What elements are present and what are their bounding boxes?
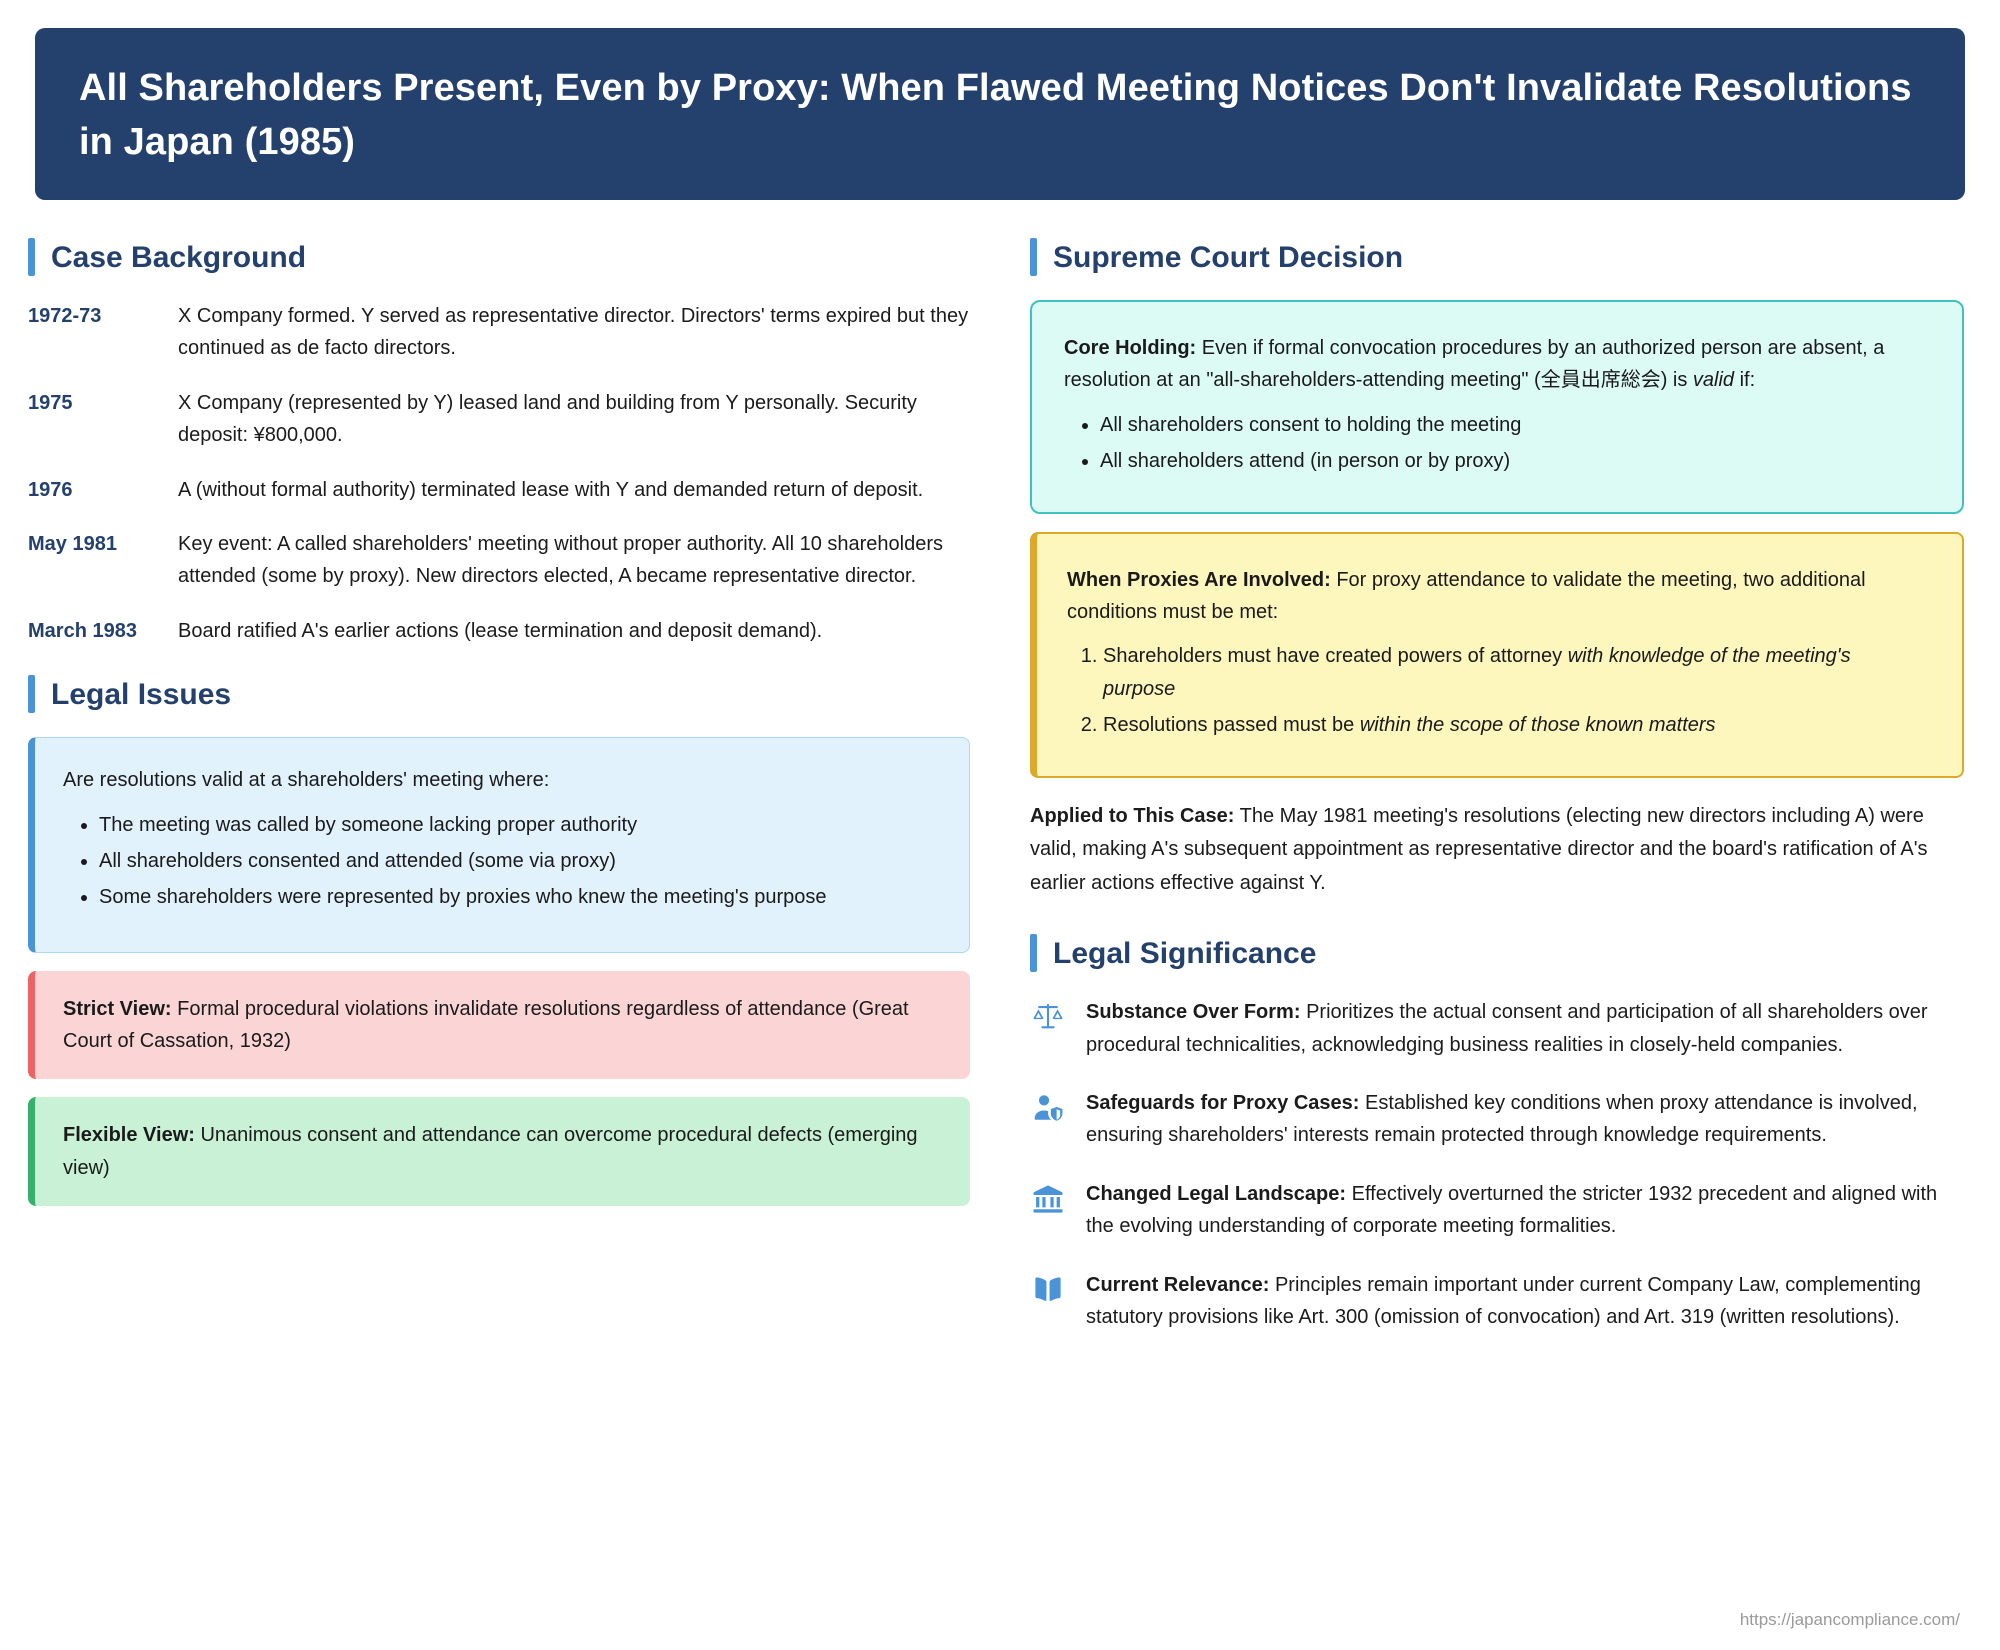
- applied-label: Applied to This Case:: [1030, 805, 1234, 827]
- timeline-date: 1972-73: [28, 300, 178, 332]
- list-item: All shareholders consent to holding the …: [1100, 409, 1928, 441]
- section-legal-issues-heading: Legal Issues: [28, 675, 970, 713]
- timeline-row: 1976 A (without formal authority) termin…: [28, 474, 970, 506]
- proxy-item-italic: within the scope of those known matters: [1360, 714, 1716, 736]
- list-item: Resolutions passed must be within the sc…: [1103, 709, 1928, 741]
- timeline-date: March 1983: [28, 615, 178, 647]
- list-item: All shareholders attend (in person or by…: [1100, 445, 1928, 477]
- significance-label: Substance Over Form:: [1086, 1001, 1301, 1023]
- core-holding-label: Core Holding:: [1064, 337, 1196, 359]
- significance-label: Changed Legal Landscape:: [1086, 1183, 1346, 1205]
- timeline-row: 1975 X Company (represented by Y) leased…: [28, 387, 970, 452]
- book-icon: [1030, 1273, 1066, 1307]
- timeline-row: May 1981 Key event: A called shareholder…: [28, 528, 970, 593]
- core-holding-italic: valid: [1693, 369, 1734, 391]
- list-item: Some shareholders were represented by pr…: [99, 881, 939, 913]
- question-bullet-list: The meeting was called by someone lackin…: [63, 809, 939, 914]
- section-title: Case Background: [51, 241, 306, 274]
- significance-item: Substance Over Form: Prioritizes the act…: [1030, 996, 1964, 1061]
- accent-bar: [28, 238, 35, 276]
- applied-to-case-paragraph: Applied to This Case: The May 1981 meeti…: [1030, 800, 1964, 901]
- infographic-page: All Shareholders Present, Even by Proxy:…: [0, 0, 2000, 1650]
- timeline-date: 1975: [28, 387, 178, 419]
- bank-icon: [1030, 1182, 1066, 1216]
- timeline-text: Board ratified A's earlier actions (leas…: [178, 615, 970, 647]
- case-background-timeline: 1972-73 X Company formed. Y served as re…: [28, 300, 970, 647]
- legal-significance-list: Substance Over Form: Prioritizes the act…: [1030, 996, 1964, 1333]
- flexible-view-box: Flexible View: Unanimous consent and att…: [28, 1097, 970, 1206]
- strict-view-label: Strict View:: [63, 998, 172, 1020]
- flexible-view-label: Flexible View:: [63, 1124, 195, 1146]
- question-intro: Are resolutions valid at a shareholders'…: [63, 764, 939, 796]
- list-item: The meeting was called by someone lackin…: [99, 809, 939, 841]
- proxy-conditions-list: Shareholders must have created powers of…: [1067, 640, 1928, 741]
- proxy-box-label: When Proxies Are Involved:: [1067, 569, 1331, 591]
- left-column: Case Background 1972-73 X Company formed…: [0, 238, 1020, 1359]
- section-title: Legal Issues: [51, 678, 231, 711]
- scales-icon: [1030, 1000, 1066, 1034]
- footer-url: https://japancompliance.com/: [1740, 1610, 1960, 1630]
- timeline-date: May 1981: [28, 528, 178, 560]
- section-case-background-heading: Case Background: [28, 238, 970, 276]
- person-shield-icon: [1030, 1091, 1066, 1125]
- proxy-item-text-1: Resolutions passed must be: [1103, 714, 1360, 736]
- timeline-text: X Company (represented by Y) leased land…: [178, 387, 970, 452]
- header-banner: All Shareholders Present, Even by Proxy:…: [35, 28, 1965, 200]
- core-holding-box: Core Holding: Even if formal convocation…: [1030, 300, 1964, 514]
- timeline-text: Key event: A called shareholders' meetin…: [178, 528, 970, 593]
- section-title: Supreme Court Decision: [1053, 241, 1403, 274]
- right-column: Supreme Court Decision Core Holding: Eve…: [1020, 238, 2000, 1359]
- two-column-body: Case Background 1972-73 X Company formed…: [0, 238, 2000, 1359]
- significance-item: Safeguards for Proxy Cases: Established …: [1030, 1087, 1964, 1152]
- accent-bar: [1030, 934, 1037, 972]
- strict-view-box: Strict View: Formal procedural violation…: [28, 971, 970, 1080]
- core-holding-bullet-list: All shareholders consent to holding the …: [1064, 409, 1928, 478]
- significance-label: Safeguards for Proxy Cases:: [1086, 1092, 1359, 1114]
- list-item: Shareholders must have created powers of…: [1103, 640, 1928, 705]
- core-holding-text-2: if:: [1734, 369, 1755, 391]
- section-title: Legal Significance: [1053, 937, 1316, 970]
- accent-bar: [28, 675, 35, 713]
- page-title: All Shareholders Present, Even by Proxy:…: [79, 62, 1921, 170]
- section-supreme-court-decision-heading: Supreme Court Decision: [1030, 238, 1964, 276]
- timeline-date: 1976: [28, 474, 178, 506]
- timeline-row: 1972-73 X Company formed. Y served as re…: [28, 300, 970, 365]
- section-legal-significance-heading: Legal Significance: [1030, 934, 1964, 972]
- accent-bar: [1030, 238, 1037, 276]
- timeline-row: March 1983 Board ratified A's earlier ac…: [28, 615, 970, 647]
- proxy-item-text-1: Shareholders must have created powers of…: [1103, 645, 1568, 667]
- timeline-text: A (without formal authority) terminated …: [178, 474, 970, 506]
- legal-issues-question-box: Are resolutions valid at a shareholders'…: [28, 737, 970, 953]
- significance-label: Current Relevance:: [1086, 1274, 1269, 1296]
- proxy-conditions-box: When Proxies Are Involved: For proxy att…: [1030, 532, 1964, 778]
- strict-view-text: Formal procedural violations invalidate …: [63, 998, 909, 1052]
- significance-item: Current Relevance: Principles remain imp…: [1030, 1269, 1964, 1334]
- list-item: All shareholders consented and attended …: [99, 845, 939, 877]
- significance-item: Changed Legal Landscape: Effectively ove…: [1030, 1178, 1964, 1243]
- timeline-text: X Company formed. Y served as representa…: [178, 300, 970, 365]
